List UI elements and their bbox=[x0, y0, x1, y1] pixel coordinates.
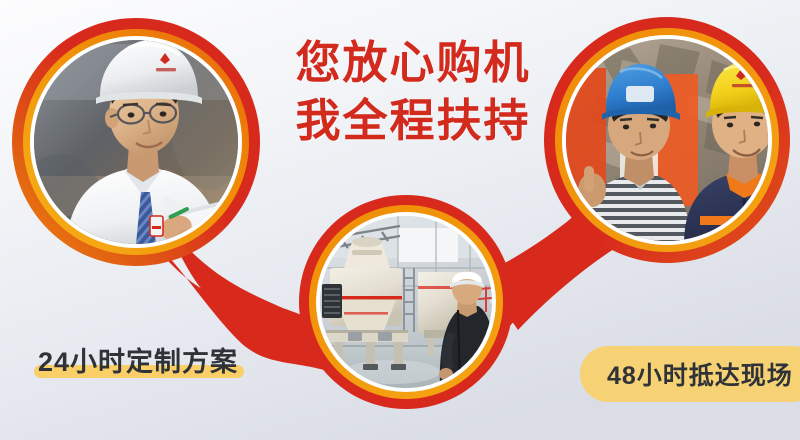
promo-banner: 您放心购机 我全程扶持 24小时定制方案 48小时抵达现场 bbox=[0, 0, 800, 440]
circle-engineer bbox=[12, 18, 260, 266]
caption-left: 24小时定制方案 bbox=[34, 344, 244, 380]
caption-left-highlight-wrap: 24小时定制方案 bbox=[34, 344, 244, 380]
caption-right-text: 48小时抵达现场 bbox=[607, 356, 793, 392]
caption-left-text: 24小时定制方案 bbox=[38, 347, 238, 377]
caption-right-pill: 48小时抵达现场 bbox=[580, 346, 800, 402]
